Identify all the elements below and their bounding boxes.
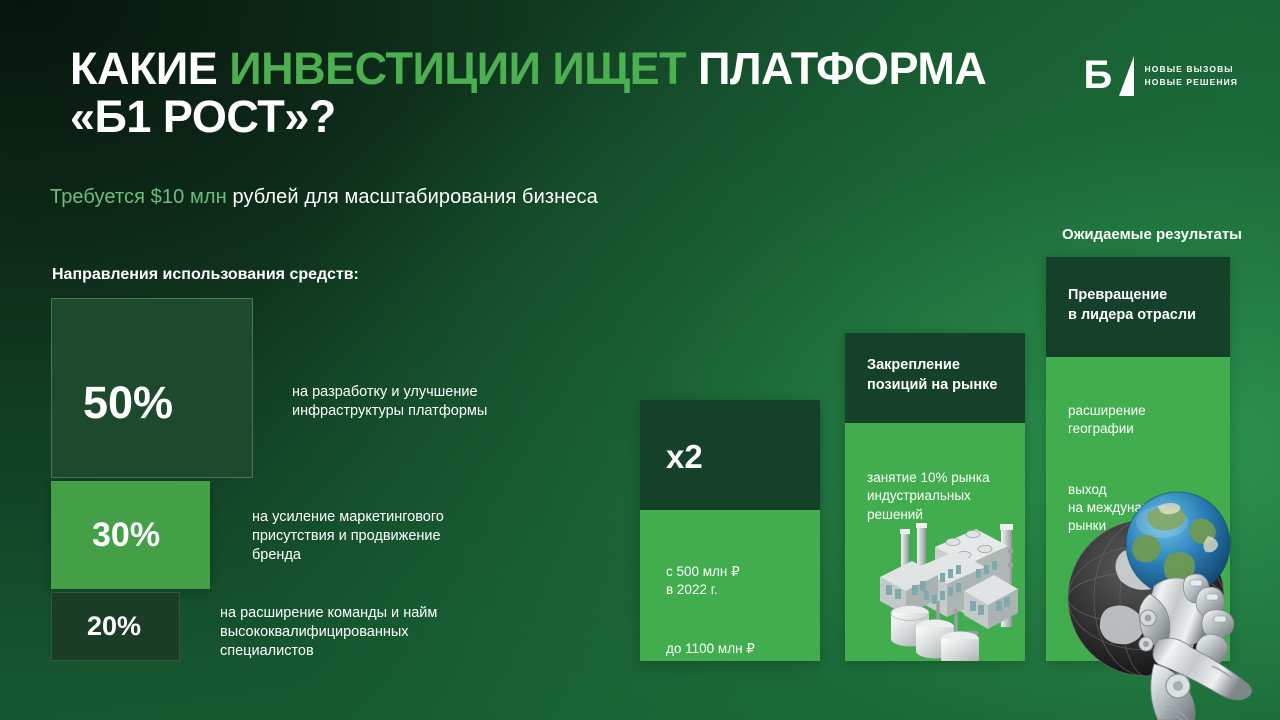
brand-logo: Б НОВЫЕ ВЫЗОВЫ НОВЫЕ РЕШЕНИЯ	[1084, 55, 1238, 97]
allocation-heading: Направления использования средств:	[52, 266, 359, 284]
allocation-description-20: на расширение команды и найм высококвали…	[220, 604, 437, 661]
allocation-percent: 30%	[92, 516, 160, 555]
subtitle: Требуется $10 млн рублей для масштабиров…	[50, 186, 598, 209]
factory-icon	[860, 505, 1020, 661]
result-card-header: Превращение в лидера отрасли	[1046, 257, 1230, 357]
title-part-2: ПЛАТФОРМА	[686, 43, 986, 94]
allocation-percent: 20%	[87, 611, 141, 642]
revenue-multiplier: x2	[666, 440, 820, 473]
robot-hand-globe-icon	[1062, 478, 1280, 720]
allocation-percent: 50%	[83, 377, 173, 429]
result-card-header: Закрепление позиций на рынке	[845, 333, 1025, 423]
revenue-from: с 500 млн ₽ в 2022 г.	[666, 563, 820, 599]
allocation-block-50: 50%	[51, 298, 253, 478]
title-accent: ИНВЕСТИЦИИ ИЩЕТ	[229, 43, 686, 94]
allocation-block-30: 30%	[51, 481, 210, 589]
result-card-revenue: x2 рост выручки с 500 млн ₽ в 2022 г. до…	[640, 400, 820, 661]
logo-slash-icon	[1119, 56, 1134, 96]
subtitle-amount: Требуется $10 млн	[50, 186, 227, 208]
allocation-description-50: на разработку и улучшение инфраструктуры…	[292, 383, 487, 421]
revenue-to: до 1100 млн ₽ в 2025 г.	[666, 640, 820, 661]
result-card-body: с 500 млн ₽ в 2022 г. до 1100 млн ₽ в 20…	[640, 510, 820, 661]
result-card-header: x2 рост выручки	[640, 400, 820, 510]
title-line-2: «Б1 РОСТ»?	[70, 91, 336, 142]
logo-letter: Б	[1084, 55, 1112, 95]
expected-results-label: Ожидаемые результаты	[1062, 226, 1242, 243]
subtitle-rest: рублей для масштабирования бизнеса	[227, 186, 598, 208]
title-part-1: КАКИЕ	[70, 43, 229, 94]
logo-tagline: НОВЫЕ ВЫЗОВЫ НОВЫЕ РЕШЕНИЯ	[1145, 63, 1238, 89]
allocation-description-30: на усиление маркетингового присутствия и…	[252, 508, 444, 565]
allocation-block-20: 20%	[51, 592, 180, 661]
slide-canvas: КАКИЕ ИНВЕСТИЦИИ ИЩЕТ ПЛАТФОРМА «Б1 РОСТ…	[0, 0, 1280, 720]
logo-mark-icon: Б	[1084, 55, 1136, 97]
page-title: КАКИЕ ИНВЕСТИЦИИ ИЩЕТ ПЛАТФОРМА «Б1 РОСТ…	[70, 45, 990, 140]
leader-geography-text: расширение географии	[1068, 402, 1230, 438]
